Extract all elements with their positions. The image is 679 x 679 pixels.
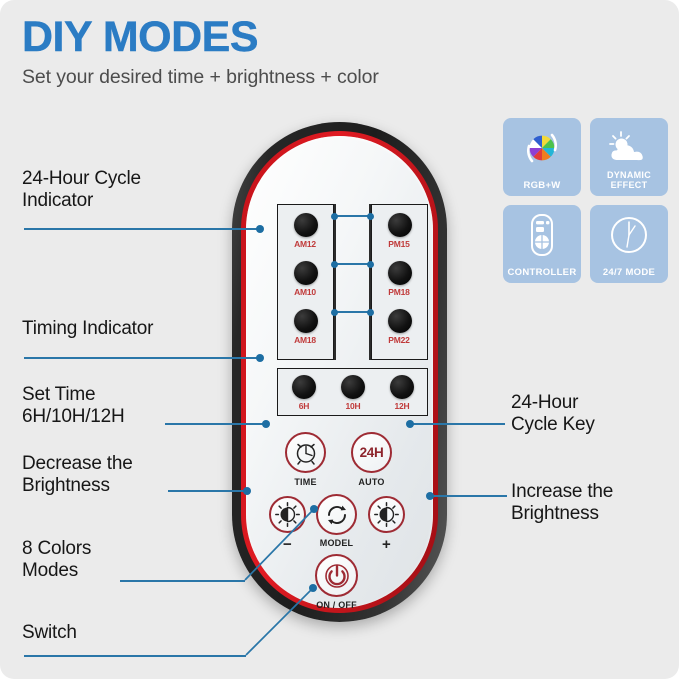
leader-dot-cycle-indicator <box>256 225 264 233</box>
leader-dot-cycle-key <box>406 420 414 428</box>
led-label-am10: AM10 <box>285 287 325 297</box>
leader-colors-modes-diagonal <box>240 500 330 590</box>
led-label-pm22: PM22 <box>379 335 419 345</box>
led-label-12h: 12H <box>382 401 422 411</box>
led-label-pm15: PM15 <box>379 239 419 249</box>
led-label-am18: AM18 <box>285 335 325 345</box>
badge-controller: CONTROLLER <box>503 205 581 283</box>
auto-button-text: 24H <box>360 445 384 460</box>
leader-set-time <box>165 423 265 425</box>
sun-cloud-icon <box>590 126 668 170</box>
badge-dynamic-effect: DYNAMIC EFFECT <box>590 118 668 196</box>
badge-rgbw: RGB+W <box>503 118 581 196</box>
led-label-6h: 6H <box>284 401 324 411</box>
led-am18[interactable] <box>294 309 318 333</box>
auto-button-caption: AUTO <box>337 477 407 487</box>
led-am10[interactable] <box>294 261 318 285</box>
auto-24h-button[interactable]: 24H <box>351 432 392 473</box>
callout-cycle-indicator: 24-Hour Cycle Indicator <box>22 168 232 213</box>
led-am12[interactable] <box>294 213 318 237</box>
led-pm15[interactable] <box>388 213 412 237</box>
pair-dot-right-2 <box>367 261 374 268</box>
time-button-caption: TIME <box>271 477 341 487</box>
led-label-pm18: PM18 <box>379 287 419 297</box>
leader-increase-brightness <box>432 495 507 497</box>
leader-cycle-indicator <box>24 228 259 230</box>
alarm-clock-icon <box>293 440 319 466</box>
callout-timing-indicator: Timing Indicator <box>22 318 252 340</box>
led-label-am12: AM12 <box>285 239 325 249</box>
leader-cycle-key <box>412 423 505 425</box>
badge-label: DYNAMIC EFFECT <box>607 171 651 191</box>
badge-label: RGB+W <box>523 181 560 191</box>
callout-colors-modes: 8 Colors Modes <box>22 538 202 583</box>
callout-switch: Switch <box>22 622 182 644</box>
brightness-up-button[interactable] <box>368 496 405 533</box>
leader-colors-modes <box>120 580 245 582</box>
timing-indicator-group: 6H 10H 12H <box>277 368 428 416</box>
pair-link-3 <box>334 311 371 313</box>
callout-cycle-key: 24-Hour Cycle Key <box>511 392 679 437</box>
pair-link-2 <box>334 263 371 265</box>
cycle-indicator-am-group: AM12 AM10 AM18 <box>277 204 334 360</box>
group-divider-right <box>369 204 371 360</box>
page-subtitle: Set your desired time + brightness + col… <box>22 66 379 89</box>
page-title: DIY MODES <box>22 16 379 60</box>
brightness-up-caption: + <box>352 536 422 553</box>
group-divider-left <box>334 204 336 360</box>
leader-dot-timing-indicator <box>256 354 264 362</box>
remote-control-icon <box>503 213 581 257</box>
pair-link-1 <box>334 215 371 217</box>
brightness-up-icon <box>374 502 399 527</box>
pair-dot-right-1 <box>367 213 374 220</box>
leader-timing-indicator <box>24 357 259 359</box>
clock-icon <box>590 213 668 257</box>
badge-label: 24/7 MODE <box>603 268 655 278</box>
led-pm18[interactable] <box>388 261 412 285</box>
led-pm22[interactable] <box>388 309 412 333</box>
leader-dot-increase-brightness <box>426 492 434 500</box>
infographic-root: DIY MODES Set your desired time + bright… <box>0 0 679 679</box>
color-wheel-icon <box>503 126 581 170</box>
pair-dot-left-1 <box>331 213 338 220</box>
callout-increase-brightness: Increase the Brightness <box>511 481 679 526</box>
led-12h[interactable] <box>390 375 414 399</box>
leader-switch-diagonal <box>243 580 333 660</box>
leader-decrease-brightness <box>168 490 246 492</box>
badge-24-7-mode: 24/7 MODE <box>590 205 668 283</box>
pair-dot-left-3 <box>331 309 338 316</box>
badge-label: CONTROLLER <box>508 268 577 278</box>
header: DIY MODES Set your desired time + bright… <box>22 16 379 89</box>
leader-dot-decrease-brightness <box>243 487 251 495</box>
led-10h[interactable] <box>341 375 365 399</box>
feature-badges: RGB+W DYNAMIC EFFECT <box>503 118 671 286</box>
cycle-indicator-pm-group: PM15 PM18 PM22 <box>371 204 428 360</box>
pair-dot-right-3 <box>367 309 374 316</box>
led-6h[interactable] <box>292 375 316 399</box>
leader-dot-set-time <box>262 420 270 428</box>
pair-dot-left-2 <box>331 261 338 268</box>
leader-switch <box>24 655 246 657</box>
time-button[interactable] <box>285 432 326 473</box>
led-label-10h: 10H <box>333 401 373 411</box>
